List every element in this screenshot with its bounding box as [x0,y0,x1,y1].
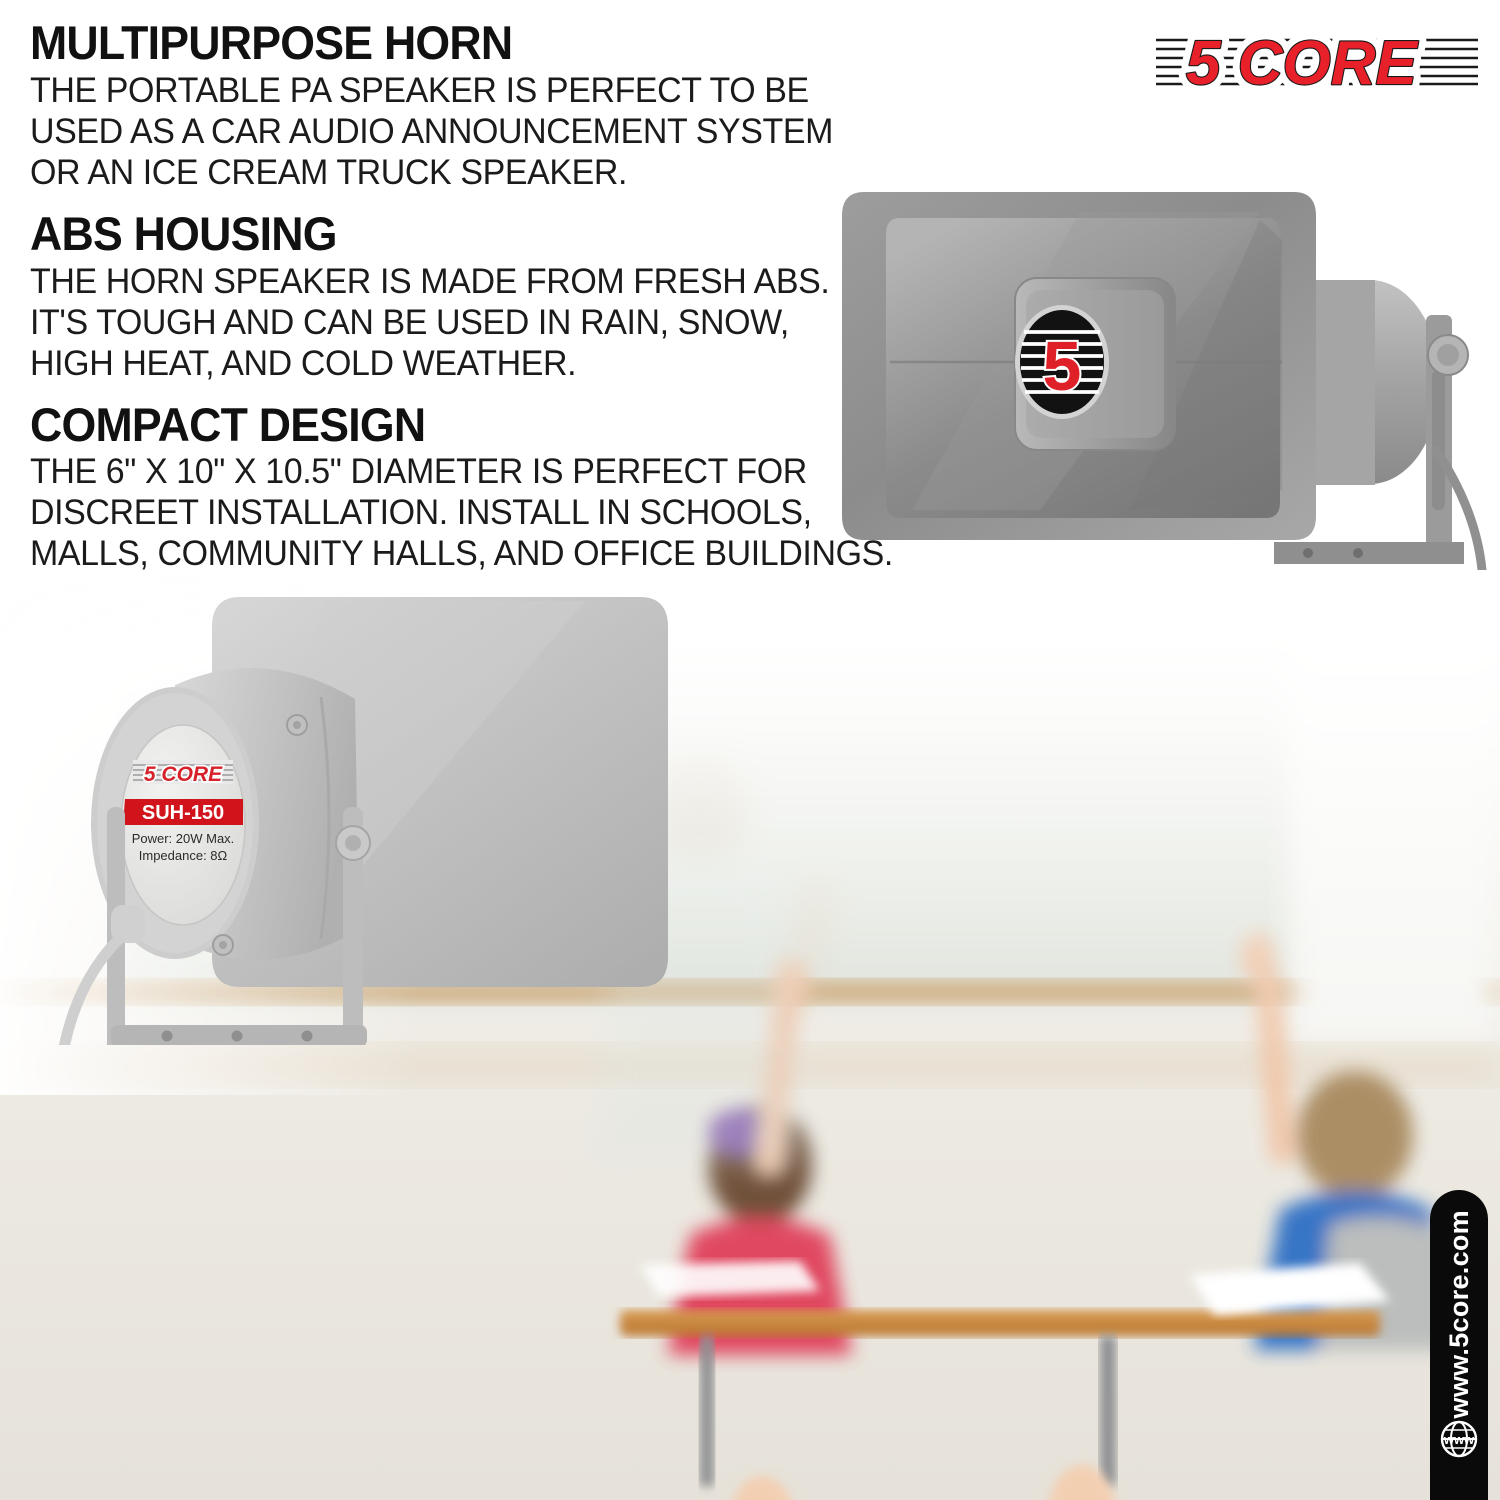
product-photo-rear-horn: 5 CORE SUH-150 Power: 20W Max. Impedance… [25,575,745,1045]
svg-text:www: www [1443,1432,1475,1447]
feature-body-line: THE 6" X 10" X 10.5" DIAMETER IS PERFECT… [30,451,932,492]
feature-title: MULTIPURPOSE HORN [30,18,914,68]
feature-body-line: HIGH HEAT, AND COLD WEATHER. [30,343,932,384]
feature-compact-design: COMPACT DESIGN THE 6" X 10" X 10.5" DIAM… [30,400,960,575]
badge-digit: 5 [1043,327,1082,405]
label-power: Power: 20W Max. [132,831,235,846]
feature-body-line: USED AS A CAR AUDIO ANNOUNCEMENT SYSTEM [30,111,932,152]
label-model: SUH-150 [142,802,224,824]
feature-body-line: IT'S TOUGH AND CAN BE USED IN RAIN, SNOW… [30,302,932,343]
badge-5core-emblem: 5 [1015,305,1109,419]
product-spec-label: 5 CORE SUH-150 Power: 20W Max. Impedance… [121,725,245,925]
feature-body-line: OR AN ICE CREAM TRUCK SPEAKER. [30,152,932,193]
globe-www-icon: www [1438,1418,1480,1465]
product-infographic-page: MULTIPURPOSE HORN THE PORTABLE PA SPEAKE… [0,0,1500,1500]
feature-body: THE HORN SPEAKER IS MADE FROM FRESH ABS.… [30,261,932,384]
logo-text: 5 CORE [1186,29,1418,98]
label-impedance: Impedance: 8Ω [139,848,228,863]
feature-body: THE 6" X 10" X 10.5" DIAMETER IS PERFECT… [30,451,932,574]
feature-body-line: THE PORTABLE PA SPEAKER IS PERFECT TO BE [30,70,932,111]
feature-title: ABS HOUSING [30,209,914,259]
feature-multipurpose-horn: MULTIPURPOSE HORN THE PORTABLE PA SPEAKE… [30,18,960,193]
feature-body-line: DISCREET INSTALLATION. INSTALL IN SCHOOL… [30,492,932,533]
feature-title: COMPACT DESIGN [30,400,914,450]
website-tab[interactable]: www.5core.com www [1430,1190,1488,1500]
feature-body: THE PORTABLE PA SPEAKER IS PERFECT TO BE… [30,70,932,193]
feature-abs-housing: ABS HOUSING THE HORN SPEAKER IS MADE FRO… [30,209,960,384]
hero-cable [59,905,145,1045]
feature-copy-column: MULTIPURPOSE HORN THE PORTABLE PA SPEAKE… [30,18,960,578]
label-brand: 5 CORE [144,763,223,786]
feature-body-line: THE HORN SPEAKER IS MADE FROM FRESH ABS. [30,261,932,302]
feature-body-line: MALLS, COMMUNITY HALLS, AND OFFICE BUILD… [30,533,932,574]
website-url-label: www.5core.com [1446,1210,1473,1418]
brand-logo-5core: 5 CORE 5 CORE 5 CORE [1152,22,1482,100]
